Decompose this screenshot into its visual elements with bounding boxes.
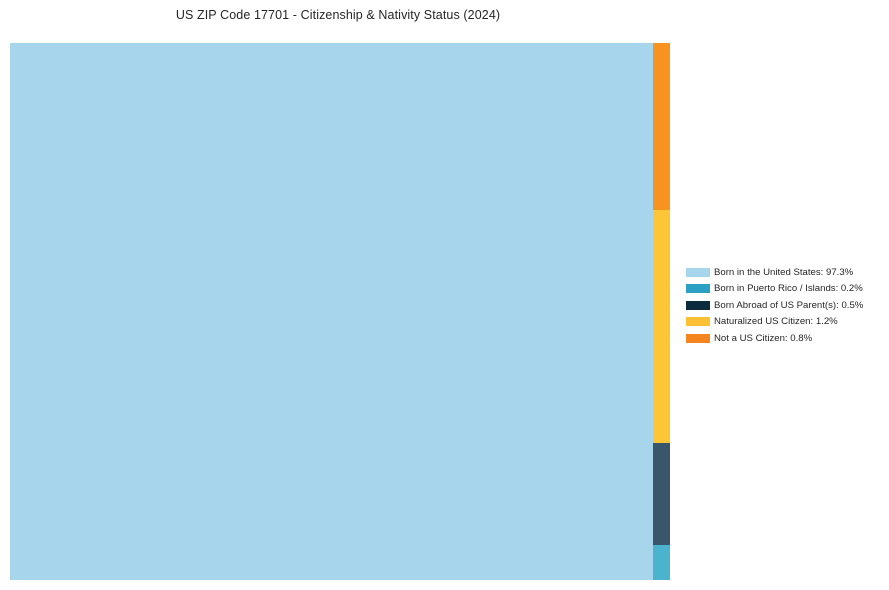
- legend-item-label: Born Abroad of US Parent(s): 0.5%: [714, 300, 863, 311]
- chart-legend: Born in the United States: 97.3% Born in…: [686, 264, 882, 347]
- legend-swatch-icon: [686, 317, 710, 326]
- legend-item[interactable]: Not a US Citizen: 0.8%: [686, 330, 882, 347]
- legend-swatch-icon: [686, 301, 710, 310]
- treemap-tile-born-in-the-united-states[interactable]: [10, 43, 653, 580]
- legend-swatch-icon: [686, 284, 710, 293]
- treemap-plot-area: [10, 43, 670, 580]
- legend-item-label: Not a US Citizen: 0.8%: [714, 333, 812, 344]
- treemap-tile-not-a-us-citizen[interactable]: [653, 43, 670, 210]
- treemap-tile-born-abroad-of-us-parents[interactable]: [653, 443, 670, 544]
- treemap-tile-born-in-puerto-rico-islands[interactable]: [653, 545, 670, 580]
- legend-item-label: Born in Puerto Rico / Islands: 0.2%: [714, 283, 863, 294]
- legend-item[interactable]: Born Abroad of US Parent(s): 0.5%: [686, 297, 882, 314]
- legend-item-label: Naturalized US Citizen: 1.2%: [714, 316, 838, 327]
- chart-title: US ZIP Code 17701 - Citizenship & Nativi…: [0, 8, 676, 22]
- legend-swatch-icon: [686, 334, 710, 343]
- legend-item-label: Born in the United States: 97.3%: [714, 267, 853, 278]
- legend-swatch-icon: [686, 268, 710, 277]
- legend-item[interactable]: Naturalized US Citizen: 1.2%: [686, 314, 882, 331]
- treemap-tile-naturalized-us-citizen[interactable]: [653, 210, 670, 443]
- legend-item[interactable]: Born in Puerto Rico / Islands: 0.2%: [686, 281, 882, 298]
- legend-item[interactable]: Born in the United States: 97.3%: [686, 264, 882, 281]
- treemap-figure: US ZIP Code 17701 - Citizenship & Nativi…: [0, 0, 889, 590]
